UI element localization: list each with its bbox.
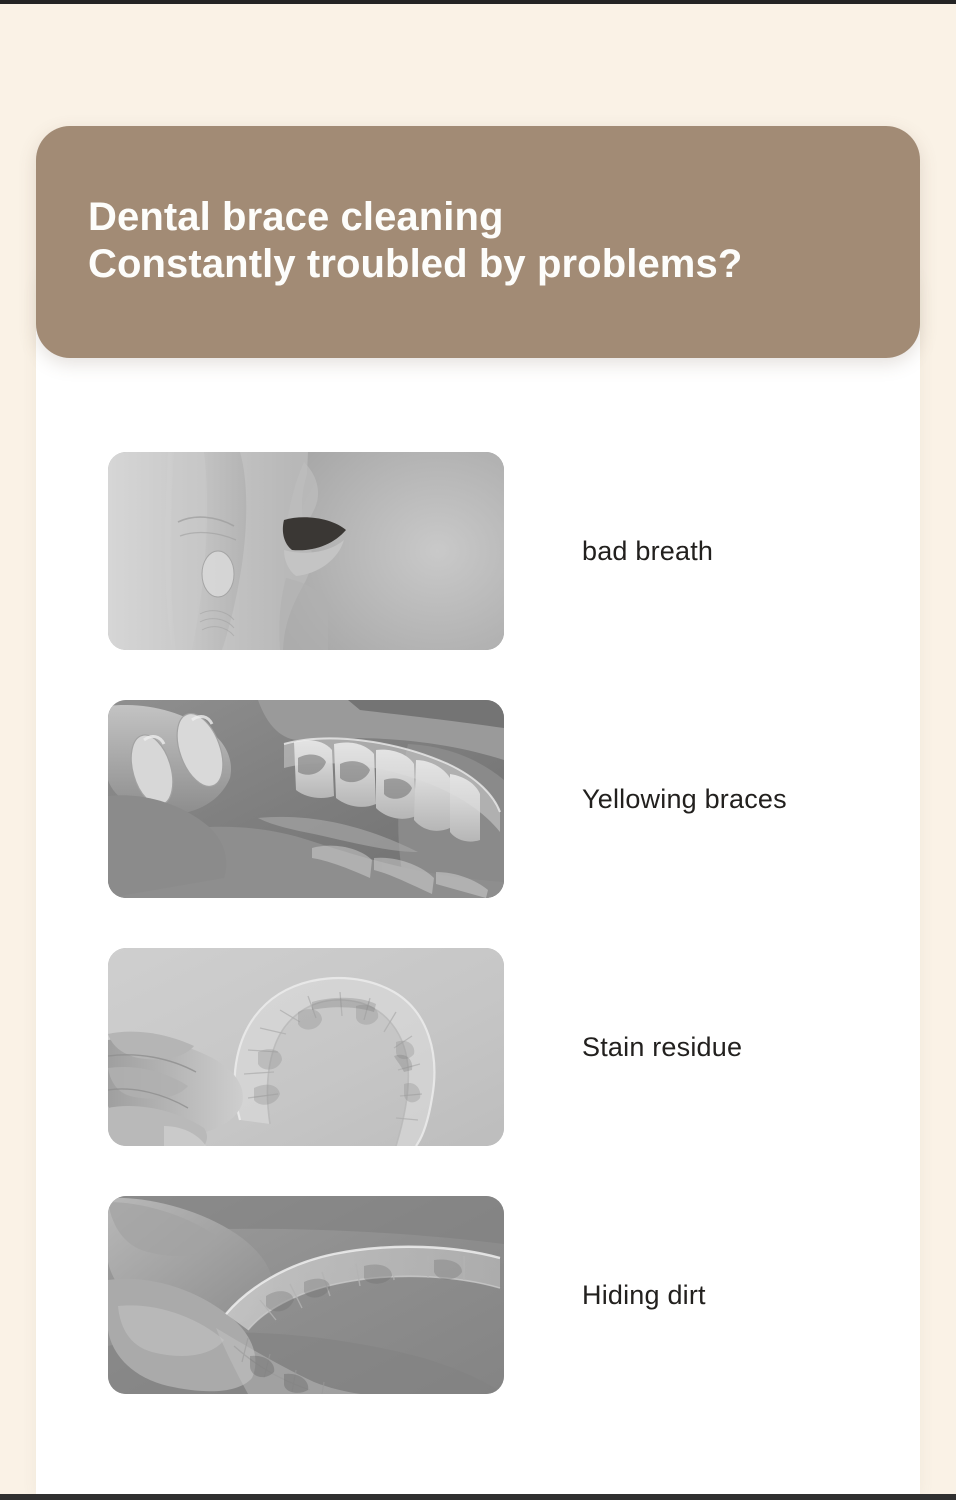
top-edge-bar: [0, 0, 956, 4]
stained-aligner-held-in-hand-photo: [108, 948, 504, 1146]
dirty-aligner-close-up-photo: [108, 1196, 504, 1394]
problem-label: Stain residue: [582, 936, 742, 1158]
promotional-page: Dental brace cleaning Constantly trouble…: [0, 0, 956, 1500]
problem-list: bad breath: [36, 440, 920, 1432]
bottom-edge-bar: [0, 1494, 956, 1500]
mouth-profile-bad-breath-photo: [108, 452, 504, 650]
problem-label: Yellowing braces: [582, 688, 787, 910]
problem-label: bad breath: [582, 440, 713, 662]
page-title: Dental brace cleaning Constantly trouble…: [88, 194, 884, 288]
list-item[interactable]: bad breath: [36, 440, 920, 688]
list-item[interactable]: Hiding dirt: [36, 1184, 920, 1432]
list-item[interactable]: Yellowing braces: [36, 688, 920, 936]
header-banner-card: Dental brace cleaning Constantly trouble…: [36, 126, 920, 358]
yellowing-aligner-on-teeth-photo: [108, 700, 504, 898]
list-item[interactable]: Stain residue: [36, 936, 920, 1184]
problem-label: Hiding dirt: [582, 1184, 706, 1406]
